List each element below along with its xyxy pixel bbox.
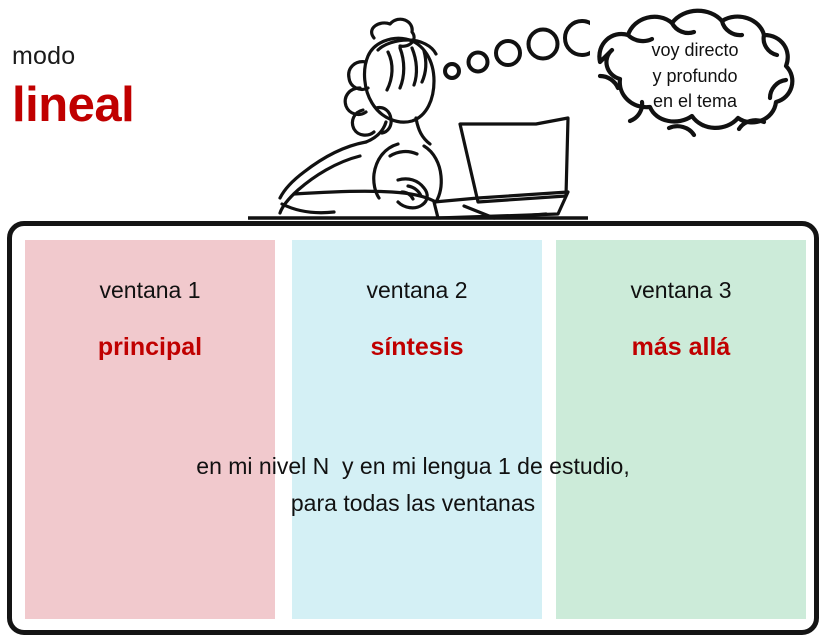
thought-bubble-text: voy directo y profundo en el tema xyxy=(600,38,790,115)
heading-block: modo lineal xyxy=(12,44,252,131)
bubble-line-2: y profundo xyxy=(600,64,790,90)
window-2-title: síntesis xyxy=(292,334,542,362)
window-3-title: más allá xyxy=(556,334,806,362)
window-column-2-texts: ventana 2 síntesis xyxy=(292,240,542,362)
slide-canvas: modo lineal xyxy=(0,0,826,644)
window-1-label: ventana 1 xyxy=(25,278,275,303)
window-column-3-texts: ventana 3 más allá xyxy=(556,240,806,362)
window-column-1-texts: ventana 1 principal xyxy=(25,240,275,362)
page-title: lineal xyxy=(12,80,252,131)
window-2-label: ventana 2 xyxy=(292,278,542,303)
thought-dots-icon xyxy=(440,16,590,86)
window-3-label: ventana 3 xyxy=(556,278,806,303)
window-1-title: principal xyxy=(25,334,275,362)
bubble-line-3: en el tema xyxy=(600,89,790,115)
bubble-line-1: voy directo xyxy=(600,38,790,64)
heading-kicker: modo xyxy=(12,44,252,69)
